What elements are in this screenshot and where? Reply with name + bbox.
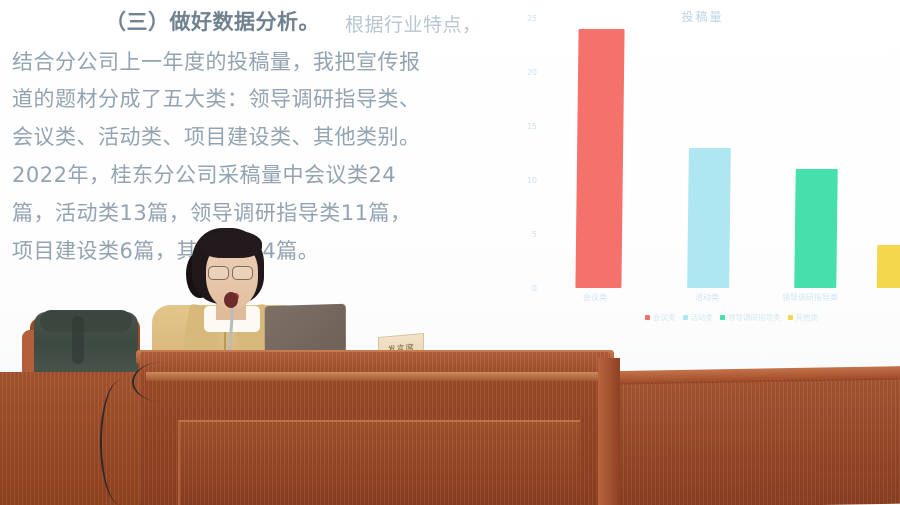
slide-line-6: 项目建设类6篇，其他类型4篇。 [12,235,319,265]
chart-legend: 会议类 活动类 领导调研指导类 其他类 [645,312,900,323]
legend-item-huodonglei[interactable]: 活动类 [683,312,714,323]
slide-line-5: 篇，活动类13篇，领导调研指导类11篇， [12,197,411,227]
glasses-icon [208,266,258,278]
slide-heading: （三）做好数据分析。 [105,6,320,36]
legend-label-huodonglei: 活动类 [691,312,714,323]
screenshot-root: （三）做好数据分析。 根据行业特点， 结合分公司上一年度的投稿量，我把宣传报 道… [0,0,900,505]
slide-line-0: 根据行业特点， [345,10,482,37]
legend-label-lingdaodiaoyan: 领导调研指导类 [728,312,781,323]
podium-shelf [146,372,604,381]
legend-label-huiyilei: 会议类 [653,312,676,323]
chart-y-axis: 25 20 15 10 5 0 [505,0,537,300]
podium-front-panel [178,420,580,505]
podium-panel-grain [180,422,580,505]
glasses-lens-left [208,266,229,280]
y-tick-10: 10 [511,176,537,185]
y-tick-15: 15 [511,122,537,131]
y-tick-25: 25 [511,14,537,23]
legend-swatch-lingdaodiaoyan [720,315,725,320]
legend-swatch-huodonglei [683,315,688,320]
slide-line-4: 2022年，桂东分公司采稿量中会议类24 [12,159,396,189]
y-tick-20: 20 [511,68,537,77]
x-label-lingdaodiaoyan: 领导调研指导类 [755,292,865,303]
microphone-head [224,292,238,308]
bar-lingdaodiaoyan[interactable] [794,169,837,288]
legend-label-qitalei: 其他类 [796,312,819,323]
glasses-lens-right [232,266,253,280]
cable-left [100,380,142,505]
podium-side-column [598,358,620,505]
legend-swatch-qitalei [788,315,793,320]
desk-right-block [615,379,900,505]
slide-line-1: 结合分公司上一年度的投稿量，我把宣传报 [12,46,421,76]
legend-item-huiyilei[interactable]: 会议类 [645,312,676,323]
submission-bar-chart: 投稿量 25 20 15 10 5 0 会议类 活动类 领导调研指导类 会议类 [505,0,900,340]
wood-grain-right [615,379,900,505]
chart-plot-area [545,18,900,288]
legend-item-lingdaodiaoyan[interactable]: 领导调研指导类 [720,312,781,323]
y-tick-0: 0 [511,284,537,293]
legend-item-qitalei[interactable]: 其他类 [788,312,819,323]
bar-huodonglei[interactable] [687,148,731,288]
cable-upper [132,362,194,402]
bar-qitalei[interactable] [877,245,900,288]
y-tick-5: 5 [511,230,537,239]
chair-crease [72,316,84,364]
bar-huiyilei[interactable] [575,29,624,288]
slide-line-3: 会议类、活动类、项目建设类、其他类别。 [12,121,421,151]
x-label-huiyilei: 会议类 [553,292,637,303]
slide-line-2: 道的题材分成了五大类：领导调研指导类、 [12,83,421,113]
legend-swatch-huiyilei [645,315,650,320]
x-label-huodonglei: 活动类 [665,292,749,303]
chair-headrest [40,310,132,332]
hair-fringe [200,230,262,258]
